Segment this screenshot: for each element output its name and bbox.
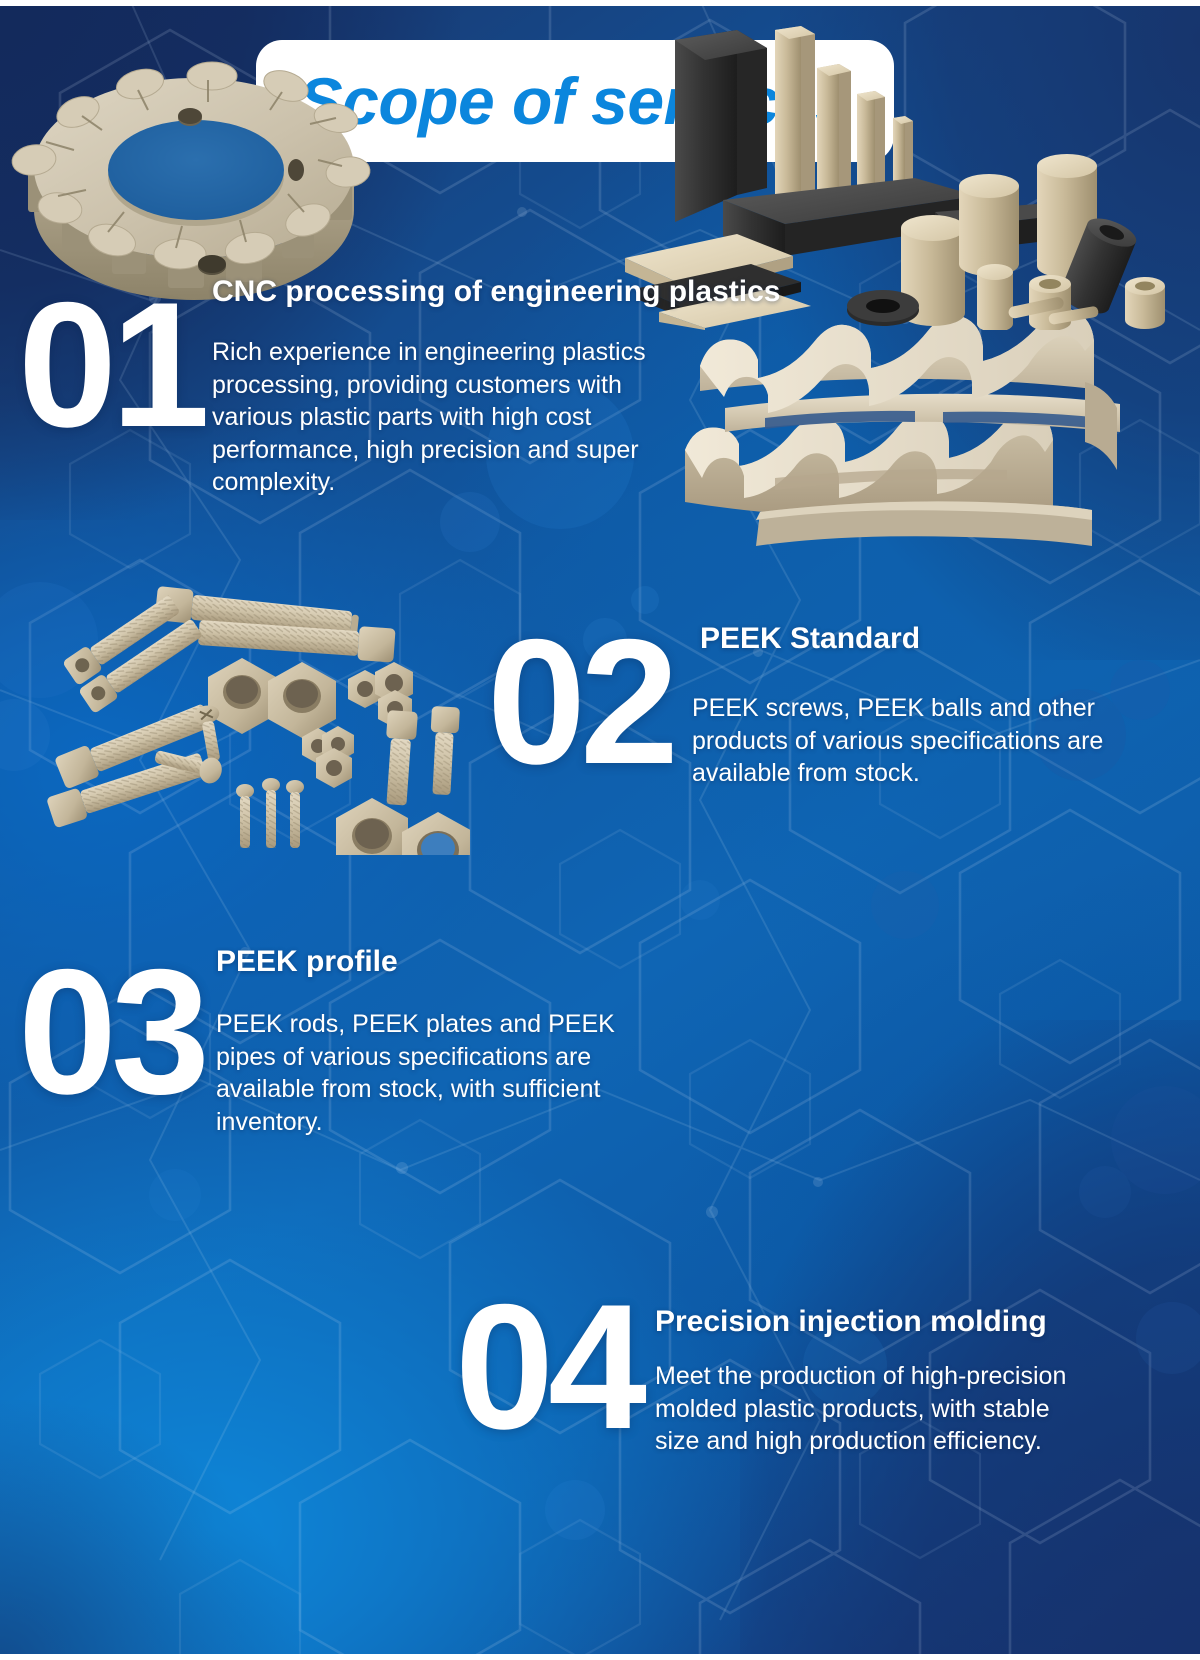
service-heading-01: CNC processing of engineering plastics — [212, 275, 780, 309]
service-heading-03: PEEK profile — [216, 945, 398, 979]
peek-screws-and-nuts-photo — [40, 550, 470, 855]
bottom-white-strip — [0, 1654, 1200, 1660]
service-body-01: Rich experience in engineering plastics … — [212, 336, 664, 499]
poster-canvas: Scope of services — [0, 0, 1200, 1660]
service-number-01: 01 — [18, 288, 204, 441]
service-body-04: Meet the production of high-precision mo… — [655, 1360, 1100, 1458]
service-heading-02: PEEK Standard — [700, 622, 920, 656]
service-number-04: 04 — [455, 1290, 641, 1443]
service-number-03: 03 — [18, 955, 204, 1108]
service-body-03: PEEK rods, PEEK plates and PEEK pipes of… — [216, 1008, 636, 1138]
service-heading-04: Precision injection molding — [655, 1305, 1047, 1339]
service-number-02: 02 — [487, 625, 673, 778]
cnc-machined-peek-part-photo — [665, 300, 1140, 565]
service-body-02: PEEK screws, PEEK balls and other produc… — [692, 692, 1122, 790]
